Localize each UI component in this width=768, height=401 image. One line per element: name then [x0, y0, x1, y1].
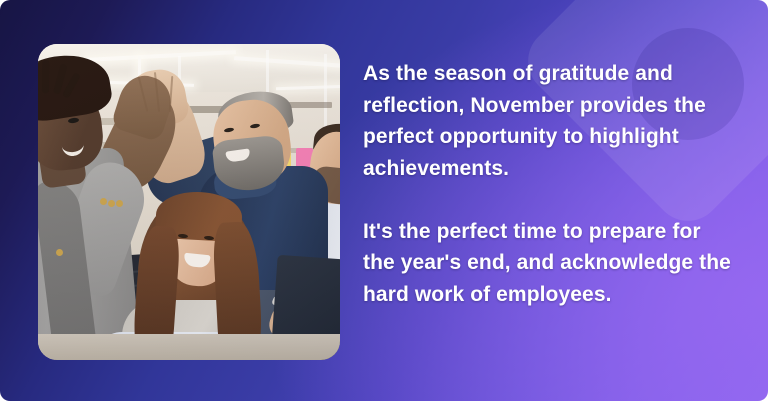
team-photo-image [38, 44, 340, 360]
banner-paragraph-2: It's the perfect time to prepare for the… [363, 216, 735, 311]
banner-copy: As the season of gratitude and reflectio… [363, 58, 735, 310]
photo-color-tint [38, 44, 340, 360]
promo-banner: As the season of gratitude and reflectio… [0, 0, 768, 401]
banner-paragraph-1: As the season of gratitude and reflectio… [363, 58, 735, 184]
team-photo-card [38, 44, 340, 360]
